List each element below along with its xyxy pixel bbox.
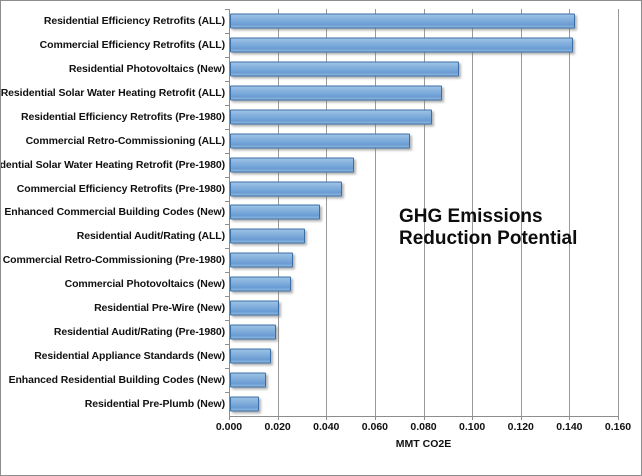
bar-row: Commercial Retro-Commissioning (ALL) (1, 129, 642, 153)
bar-fill (230, 277, 291, 292)
category-label: Residential Efficiency Retrofits (Pre-19… (0, 111, 225, 123)
category-label: Commercial Efficiency Retrofits (ALL) (0, 39, 225, 51)
x-axis-ticks: 0.0000.0200.0400.0600.0800.1000.1200.140… (229, 420, 618, 436)
chart-image: Residential Efficiency Retrofits (ALL)Co… (0, 0, 642, 476)
x-axis-tick (569, 416, 570, 420)
y-axis-tick (225, 272, 229, 273)
y-axis-tick (225, 57, 229, 58)
y-axis-tick (225, 33, 229, 34)
x-axis-tick (229, 416, 230, 420)
bar (230, 205, 320, 220)
annotation-line-1: GHG Emissions (399, 206, 619, 228)
bar-fill (230, 205, 320, 220)
bar-fill (230, 13, 575, 28)
bar (230, 349, 271, 364)
bar-fill (230, 181, 342, 196)
bar (230, 373, 266, 388)
y-axis-tick (225, 392, 229, 393)
y-axis-tick (225, 9, 229, 10)
bar (230, 181, 342, 196)
bar (230, 253, 293, 268)
x-axis-tick (326, 416, 327, 420)
x-axis-tick (472, 416, 473, 420)
bar-fill (230, 325, 276, 340)
bar-row: Residential Pre-Plumb (New) (1, 392, 642, 416)
bar-row: Residential Solar Water Heating Retrofit… (1, 153, 642, 177)
bar-row: Enhanced Residential Building Codes (New… (1, 368, 642, 392)
bar-row: Commercial Efficiency Retrofits (ALL) (1, 33, 642, 57)
y-axis-tick (225, 81, 229, 82)
y-axis-tick (225, 201, 229, 202)
y-axis-tick (225, 320, 229, 321)
bar-row: Residential Pre-Wire (New) (1, 296, 642, 320)
y-axis-tick (225, 129, 229, 130)
bar-fill (230, 109, 432, 124)
bar-fill (230, 396, 259, 411)
category-label: Commercial Retro-Commissioning (Pre-1980… (0, 254, 225, 266)
bar-fill (230, 301, 279, 316)
bar (230, 37, 573, 52)
annotation-line-2: Reduction Potential (399, 228, 619, 250)
y-axis-tick (225, 368, 229, 369)
bar-fill (230, 157, 354, 172)
bar-row: Commercial Photovoltaics (New) (1, 272, 642, 296)
bar (230, 325, 276, 340)
bar-fill (230, 349, 271, 364)
category-label: Residential Solar Water Heating Retrofit… (0, 159, 225, 171)
category-label: Residential Photovoltaics (New) (0, 63, 225, 75)
bar-fill (230, 37, 573, 52)
category-label: Enhanced Commercial Building Codes (New) (0, 206, 225, 218)
bar (230, 277, 291, 292)
category-label: Residential Pre-Wire (New) (0, 302, 225, 314)
y-axis-tick (225, 344, 229, 345)
category-label: Residential Pre-Plumb (New) (0, 398, 225, 410)
x-axis-tick-label: 0.160 (588, 421, 642, 433)
category-label: Residential Audit/Rating (ALL) (0, 230, 225, 242)
category-label: Enhanced Residential Building Codes (New… (0, 374, 225, 386)
bar-row: Residential Solar Water Heating Retrofit… (1, 81, 642, 105)
chart-annotation: GHG Emissions Reduction Potential (399, 206, 619, 251)
y-axis-tick (225, 105, 229, 106)
x-axis-tick (278, 416, 279, 420)
y-axis-tick (225, 224, 229, 225)
bar-fill (230, 61, 459, 76)
bar (230, 396, 259, 411)
category-label: Residential Solar Water Heating Retrofit… (0, 87, 225, 99)
bar-row: Residential Efficiency Retrofits (ALL) (1, 9, 642, 33)
bar-fill (230, 253, 293, 268)
bar (230, 229, 305, 244)
bar (230, 85, 442, 100)
y-axis-tick (225, 177, 229, 178)
x-axis-tick (618, 416, 619, 420)
bar-row: Residential Appliance Standards (New) (1, 344, 642, 368)
x-axis-tick (375, 416, 376, 420)
bar (230, 13, 575, 28)
bar-row: Residential Photovoltaics (New) (1, 57, 642, 81)
y-axis-tick (225, 248, 229, 249)
bar (230, 157, 354, 172)
bar (230, 109, 432, 124)
bar-row: Commercial Efficiency Retrofits (Pre-198… (1, 177, 642, 201)
y-axis-tick (225, 153, 229, 154)
bar (230, 133, 410, 148)
bar-row: Commercial Retro-Commissioning (Pre-1980… (1, 248, 642, 272)
bar-fill (230, 373, 266, 388)
category-label: Residential Appliance Standards (New) (0, 350, 225, 362)
category-label: Commercial Efficiency Retrofits (Pre-198… (0, 183, 225, 195)
bar-fill (230, 85, 442, 100)
x-axis-tick (521, 416, 522, 420)
x-axis-tick (424, 416, 425, 420)
bar-row: Residential Efficiency Retrofits (Pre-19… (1, 105, 642, 129)
category-label: Residential Efficiency Retrofits (ALL) (0, 15, 225, 27)
x-axis-title: MMT CO2E (229, 438, 618, 450)
bar (230, 301, 279, 316)
category-label: Commercial Retro-Commissioning (ALL) (0, 135, 225, 147)
bar (230, 61, 459, 76)
category-label: Residential Audit/Rating (Pre-1980) (0, 326, 225, 338)
bar-row: Residential Audit/Rating (Pre-1980) (1, 320, 642, 344)
bar-fill (230, 229, 305, 244)
bar-fill (230, 133, 410, 148)
y-axis-tick (225, 296, 229, 297)
category-label: Commercial Photovoltaics (New) (0, 278, 225, 290)
